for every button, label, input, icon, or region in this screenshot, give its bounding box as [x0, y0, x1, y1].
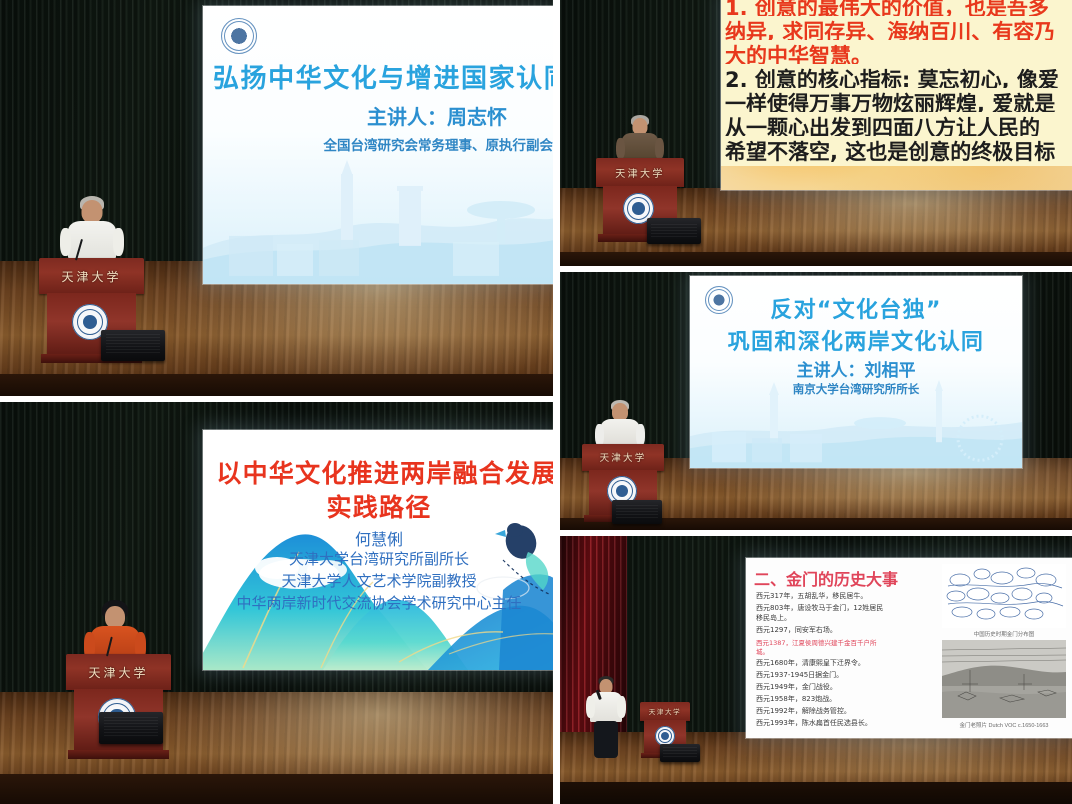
- presenter-arm-left: [60, 228, 71, 256]
- slide-bullet-10: 西元1958年，823炮战。: [756, 694, 836, 704]
- slide-affiliation-1-bottom-left: 天津大学台湾研究所副所长: [203, 548, 553, 569]
- slide-figure-map: [942, 564, 1066, 628]
- slide-bullet-3: 移民岛上。: [756, 613, 791, 623]
- presenter-arm-right: [655, 138, 664, 159]
- presenter-legs: [594, 721, 618, 758]
- slide-figure-caption-top: 中国历史时期金门分布图: [942, 630, 1066, 638]
- stage-monitor-speaker: [647, 218, 701, 244]
- slide-bottom-left: 以中华文化推进两岸融合发展 实践路径 何慧俐 天津大学台湾研究所副所长 天津大学…: [203, 430, 553, 670]
- slide-bullet-5: 西元1387，江夏侯周德兴建千金百千户所: [756, 637, 877, 647]
- stage-monitor-speaker: [99, 712, 163, 744]
- slide-figure-caption-bottom: 金门老照片 Dutch VOC c.1650-1663: [936, 721, 1072, 729]
- slide-speaker-top-left: 主讲人：周志怀: [261, 101, 553, 130]
- slide-bullet-9: 西元1949年，金门战役。: [756, 682, 837, 692]
- panel-bottom-left[interactable]: 以中华文化推进两岸融合发展 实践路径 何慧俐 天津大学台湾研究所副所长 天津大学…: [0, 402, 553, 804]
- auditorium-scene-bottom-right: 二、金门的历史大事 西元317年，五胡乱华，移民居牛。 西元803年，唐设牧马于…: [560, 536, 1072, 804]
- stage-monitor-speaker: [101, 330, 165, 361]
- presenter-arm-left: [586, 696, 595, 718]
- presenter-top-right: [616, 115, 664, 163]
- slide-bullet-4: 西元1297，同安军右场。: [756, 625, 837, 635]
- auditorium-scene-middle-right: 反对“文化台独” 巩固和深化两岸文化认同 主讲人：刘相平 南京大学台湾研究所所长…: [560, 272, 1072, 530]
- presenter-head: [82, 200, 103, 223]
- podium-label-middle-right: 天津大学: [582, 450, 664, 464]
- slide-line-7: 希望不落空, 这也是创意的终极目标: [721, 136, 1072, 166]
- stage-front-edge: [560, 782, 1072, 804]
- slide-skyline-graphic: [203, 156, 553, 284]
- slide-title-top-left: 弘扬中华文化与增进国家认同: [213, 58, 553, 95]
- slide-title-line2-bottom-left: 实践路径: [203, 488, 553, 524]
- slide-title-line2-middle-right: 巩固和深化两岸文化认同: [690, 324, 1022, 356]
- auditorium-scene-bottom-left: 以中华文化推进两岸融合发展 实践路径 何慧俐 天津大学台湾研究所副所长 天津大学…: [0, 402, 553, 804]
- stage-edge: [560, 252, 1072, 266]
- presenter-arm-right: [617, 696, 626, 718]
- slide-speaker-middle-right: 主讲人：刘相平: [690, 356, 1022, 381]
- slide-title-line1-middle-right: 反对“文化台独”: [690, 292, 1022, 324]
- stage-edge: [0, 374, 553, 396]
- presenter-torso: [622, 133, 658, 161]
- slide-bullet-1: 西元317年，五胡乱华，移民居牛。: [756, 591, 867, 601]
- stage-monitor-speaker: [660, 744, 700, 762]
- slide-bullet-12: 西元1993年，陈水扁首任民选县长。: [756, 718, 872, 728]
- projection-screen-top-left: 弘扬中华文化与增进国家认同 主讲人：周志怀 全国台湾研究会常务理事、原执行副会长: [203, 6, 553, 284]
- presenter-head: [105, 606, 125, 628]
- presenter-torso: [68, 221, 116, 259]
- slide-figure-photo: [942, 640, 1066, 718]
- presenter-arm-left: [595, 424, 604, 446]
- projection-screen-bottom-right: 二、金门的历史大事 西元317年，五胡乱华，移民居牛。 西元803年，唐设牧马于…: [746, 558, 1072, 738]
- slide-affiliation-middle-right: 南京大学台湾研究所所长: [690, 381, 1022, 397]
- panel-top-right[interactable]: 1. 创意的最伟大的价值，也是吾多 纳异, 求同存异、海纳百川、有容乃 大的中华…: [560, 0, 1072, 266]
- projection-screen-bottom-left: 以中华文化推进两岸融合发展 实践路径 何慧俐 天津大学台湾研究所副所长 天津大学…: [203, 430, 553, 670]
- stage-edge: [0, 774, 553, 804]
- slide-bullet-8: 西元1937-1945日据金门。: [756, 670, 843, 680]
- podium-base: [68, 750, 169, 759]
- projection-screen-top-right: 1. 创意的最伟大的价值，也是吾多 纳异, 求同存异、海纳百川、有容乃 大的中华…: [721, 0, 1072, 190]
- presenter-arm-right: [113, 228, 124, 256]
- presenter-arm-left: [616, 138, 625, 159]
- panel-top-left[interactable]: 弘扬中华文化与增进国家认同 主讲人：周志怀 全国台湾研究会常务理事、原执行副会长…: [0, 0, 553, 396]
- slide-speaker-name-bottom-left: 何慧俐: [203, 526, 553, 550]
- presenter-bottom-right: [586, 676, 626, 758]
- slide-top-right: 1. 创意的最伟大的价值，也是吾多 纳异, 求同存异、海纳百川、有容乃 大的中华…: [721, 0, 1072, 190]
- auditorium-scene-top-left: 弘扬中华文化与增进国家认同 主讲人：周志怀 全国台湾研究会常务理事、原执行副会长…: [0, 0, 553, 396]
- presenter-middle-right: [595, 400, 645, 450]
- podium-university-seal-icon: [655, 726, 675, 746]
- slide-bullet-2: 西元803年，唐设牧马于金门，12姓居民: [756, 603, 883, 613]
- stage-monitor-speaker: [612, 500, 662, 524]
- podium-label-top-right: 天津大学: [596, 165, 684, 180]
- podium-label-top-left: 天津大学: [39, 268, 144, 285]
- panel-bottom-right[interactable]: 二、金门的历史大事 西元317年，五胡乱华，移民居牛。 西元803年，唐设牧马于…: [560, 536, 1072, 804]
- slide-title-bottom-right: 二、金门的历史大事: [754, 566, 898, 590]
- panel-middle-right[interactable]: 反对“文化台独” 巩固和深化两岸文化认同 主讲人：刘相平 南京大学台湾研究所所长…: [560, 272, 1072, 530]
- podium-label-bottom-left: 天津大学: [66, 664, 171, 681]
- podium-label-bottom-right: 天津大学: [640, 706, 690, 716]
- slide-affiliation-top-left: 全国台湾研究会常务理事、原执行副会长: [269, 134, 553, 154]
- tianjin-university-logo-icon: [221, 18, 257, 54]
- slide-middle-right: 反对“文化台独” 巩固和深化两岸文化认同 主讲人：刘相平 南京大学台湾研究所所长: [690, 276, 1022, 468]
- projection-screen-middle-right: 反对“文化台独” 巩固和深化两岸文化认同 主讲人：刘相平 南京大学台湾研究所所长: [690, 276, 1022, 468]
- slide-affiliation-3-bottom-left: 中华两岸新时代交流协会学术研究中心主任: [203, 592, 553, 613]
- slide-top-left: 弘扬中华文化与增进国家认同 主讲人：周志怀 全国台湾研究会常务理事、原执行副会长: [203, 6, 553, 284]
- slide-bottom-right: 二、金门的历史大事 西元317年，五胡乱华，移民居牛。 西元803年，唐设牧马于…: [746, 558, 1072, 738]
- presenter-arm-right: [636, 424, 645, 446]
- photo-collage: 弘扬中华文化与增进国家认同 主讲人：周志怀 全国台湾研究会常务理事、原执行副会长…: [0, 0, 1072, 804]
- slide-bullet-6: 城。: [756, 646, 769, 656]
- slide-bullet-11: 西元1992年，解除战务管控。: [756, 706, 851, 716]
- slide-bullet-7: 西元1680年，清康熙皇下迁界令。: [756, 658, 865, 668]
- slide-affiliation-2-bottom-left: 天津大学人文艺术学院副教授: [203, 570, 553, 591]
- auditorium-scene-top-right: 1. 创意的最伟大的价值，也是吾多 纳异, 求同存异、海纳百川、有容乃 大的中华…: [560, 0, 1072, 266]
- slide-title-line1-bottom-left: 以中华文化推进两岸融合发展: [211, 454, 553, 490]
